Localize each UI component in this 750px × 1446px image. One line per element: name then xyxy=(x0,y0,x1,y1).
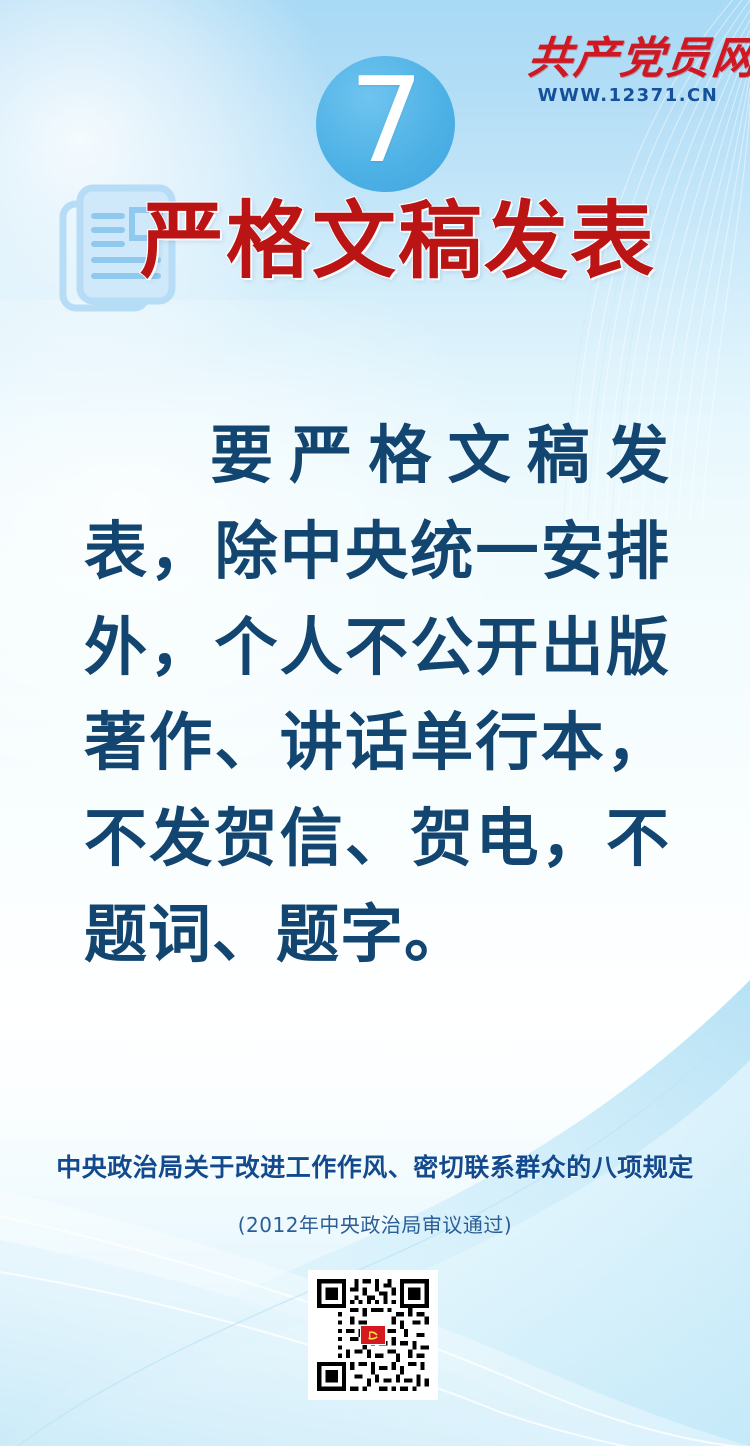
party-emblem-icon xyxy=(360,1325,386,1345)
step-number: 7 xyxy=(349,61,422,179)
footer-regulation-date: (2012年中央政治局审议通过) xyxy=(0,1209,750,1238)
page-title: 严格文稿发表 xyxy=(0,196,750,287)
footer-regulation-title: 中央政治局关于改进工作作风、密切联系群众的八项规定 xyxy=(0,1152,750,1185)
qr-code[interactable] xyxy=(308,1270,438,1400)
site-logo-url: WWW.12371.CN xyxy=(528,85,728,106)
site-logo[interactable]: 共产党员网 WWW.12371.CN xyxy=(528,36,728,106)
footer: 中央政治局关于改进工作作风、密切联系群众的八项规定 (2012年中央政治局审议通… xyxy=(0,1152,750,1238)
step-number-badge: 7 xyxy=(316,56,455,192)
poster-canvas: 7 共产党员网 WWW.12371.CN 严格文稿发表 要严格文稿发表 xyxy=(0,0,750,1446)
site-logo-wordmark: 共产党员网 xyxy=(526,36,731,82)
body-paragraph: 要严格文稿发表，除中央统一安排外，个人不公开出版著作、讲话单行本，不发贺信、贺电… xyxy=(84,408,670,983)
